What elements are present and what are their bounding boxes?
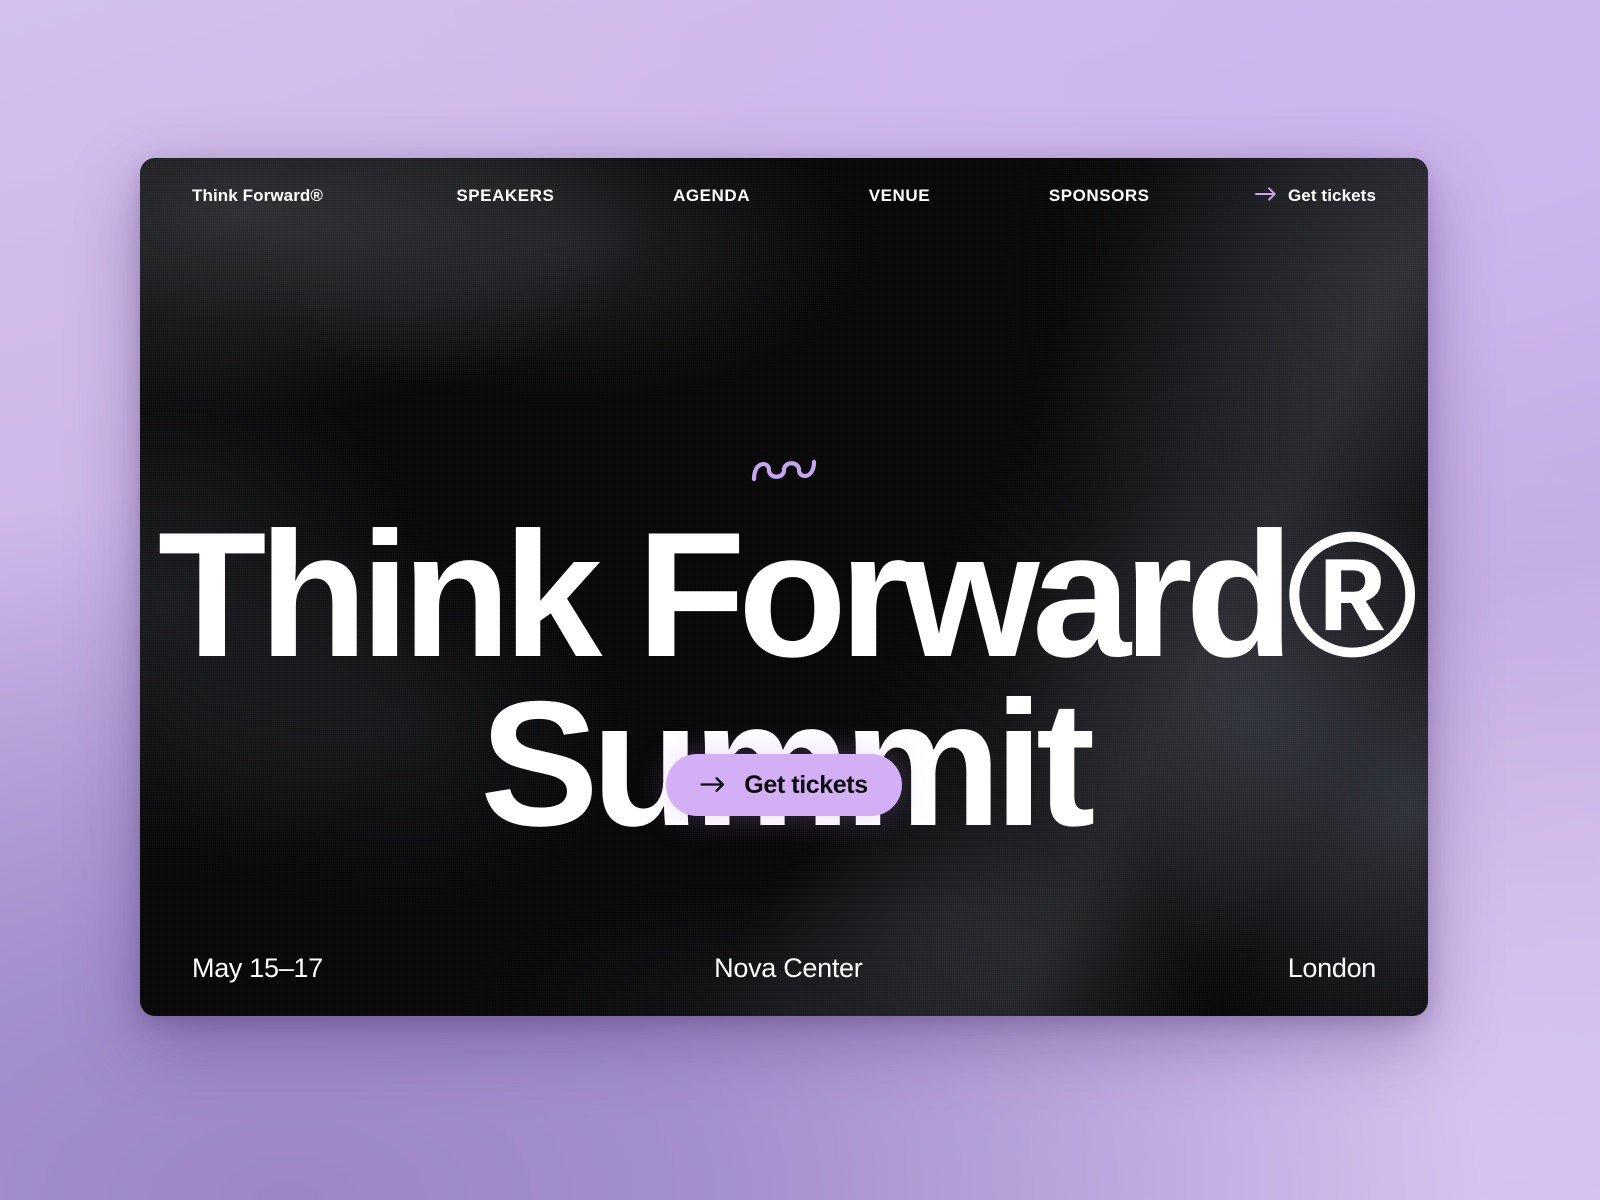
event-city: London [1288,953,1376,984]
nav-item-speakers[interactable]: SPEAKERS [456,186,554,206]
brand-logo[interactable]: Think Forward® [192,186,323,206]
nav-item-sponsors[interactable]: SPONSORS [1049,186,1150,206]
headline-line-1: Think Forward® [140,510,1428,679]
nav-item-venue[interactable]: VENUE [869,186,930,206]
top-navigation: Think Forward® SPEAKERS AGENDA VENUE SPO… [140,158,1428,234]
page-background: Think Forward® SPEAKERS AGENDA VENUE SPO… [0,0,1600,1200]
nav-item-agenda[interactable]: AGENDA [673,186,750,206]
nav-get-tickets-label: Get tickets [1288,186,1376,206]
get-tickets-button[interactable]: Get tickets [666,754,901,816]
arrow-right-icon [1255,187,1277,205]
nav-get-tickets-link[interactable]: Get tickets [1255,186,1376,206]
event-venue: Nova Center [323,953,1288,984]
wave-squiggle-icon [140,453,1428,487]
hero-card: Think Forward® SPEAKERS AGENDA VENUE SPO… [140,158,1428,1016]
event-meta-bar: May 15–17 Nova Center London [140,920,1428,1016]
arrow-right-icon [700,773,726,798]
event-dates: May 15–17 [192,953,323,984]
cta-container: Get tickets [140,754,1428,816]
get-tickets-button-label: Get tickets [744,771,867,800]
nav-links: SPEAKERS AGENDA VENUE SPONSORS [323,186,1255,206]
